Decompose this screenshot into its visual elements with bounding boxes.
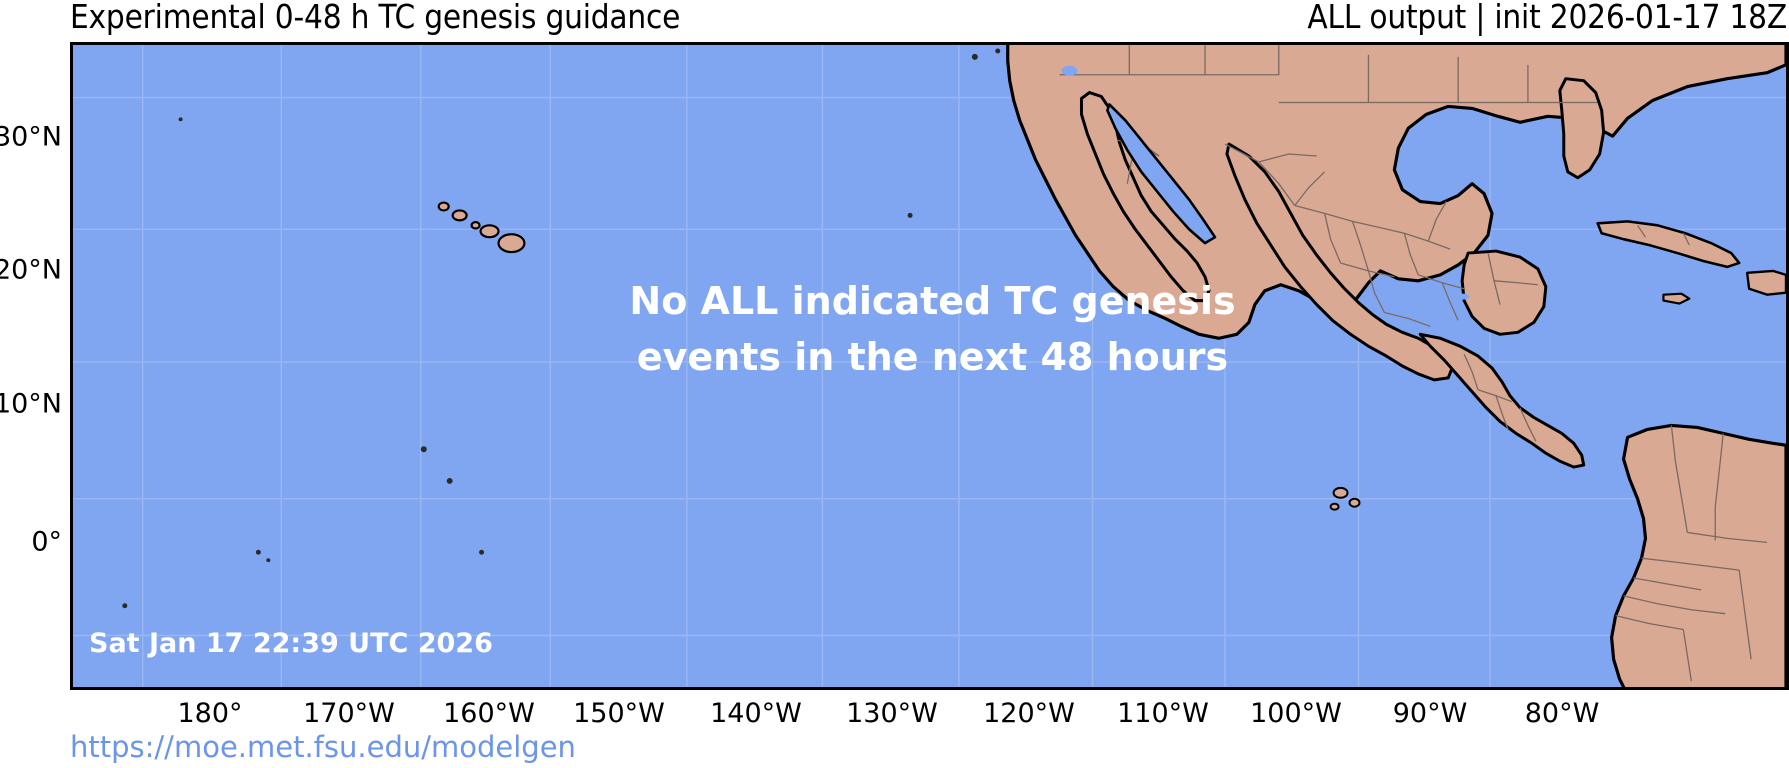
y-tick-label: 20°N [0,255,62,286]
model-init-label: ALL output | init 2026-01-17 18Z [1307,0,1787,36]
x-tick-label: 180° [177,698,242,729]
source-url-link[interactable]: https://moe.met.fsu.edu/modelgen [70,730,576,764]
x-tick-label: 90°W [1393,698,1468,729]
x-tick-label: 120°W [983,698,1075,729]
x-tick-label: 130°W [846,698,938,729]
x-tick-label: 100°W [1250,698,1342,729]
map-panel[interactable]: No ALL indicated TC genesis events in th… [70,42,1789,690]
ocean-background [73,45,1786,687]
x-tick-label: 80°W [1525,698,1600,729]
page-title: Experimental 0-48 h TC genesis guidance [70,0,680,36]
x-tick-label: 140°W [710,698,802,729]
y-tick-label: 0° [31,527,62,558]
timestamp-label: Sat Jan 17 22:39 UTC 2026 [89,628,493,659]
y-tick-label: 30°N [0,122,62,153]
x-tick-label: 160°W [443,698,535,729]
hispaniola-landmass [1747,271,1786,295]
x-tick-label: 150°W [573,698,665,729]
x-tick-label: 170°W [303,698,395,729]
x-tick-label: 110°W [1117,698,1209,729]
map-graphic [73,45,1786,687]
header-bar: Experimental 0-48 h TC genesis guidance … [0,0,1789,42]
y-tick-label: 10°N [0,389,62,420]
